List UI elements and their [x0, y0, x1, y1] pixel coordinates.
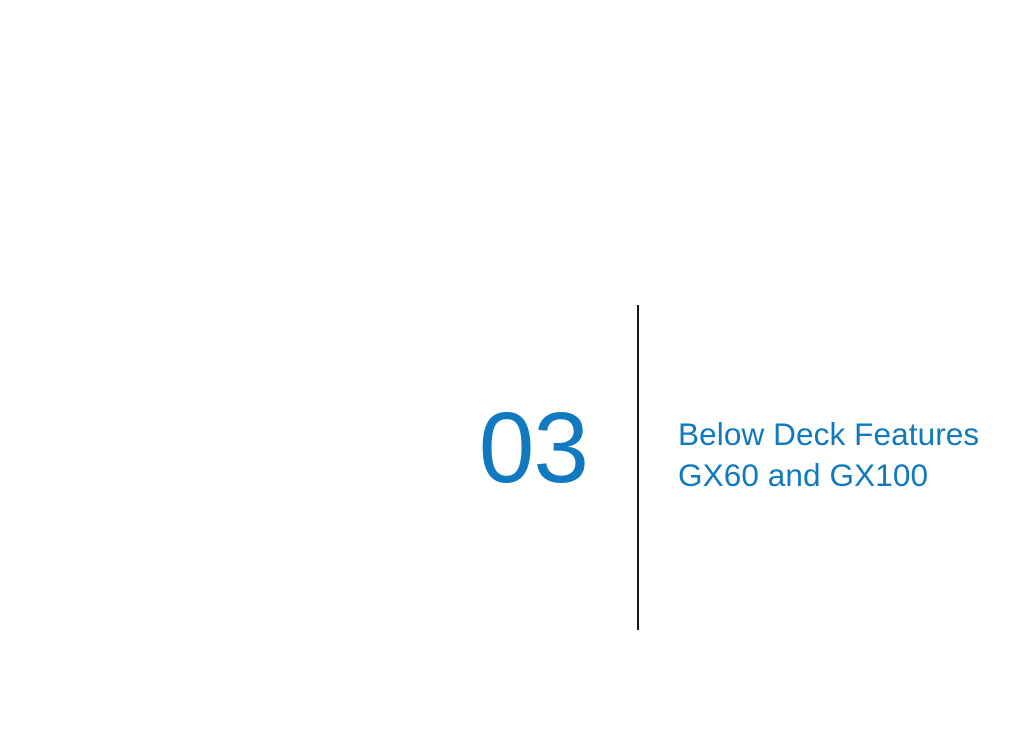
section-title-block: Below Deck Features GX60 and GX100	[678, 414, 1014, 496]
section-title-line-2: GX60 and GX100	[678, 455, 1014, 496]
section-number: 03	[380, 398, 588, 498]
vertical-divider-rule	[637, 305, 639, 630]
section-divider-slide: 03 Below Deck Features GX60 and GX100	[0, 0, 1024, 748]
section-title-line-1: Below Deck Features	[678, 414, 1014, 455]
